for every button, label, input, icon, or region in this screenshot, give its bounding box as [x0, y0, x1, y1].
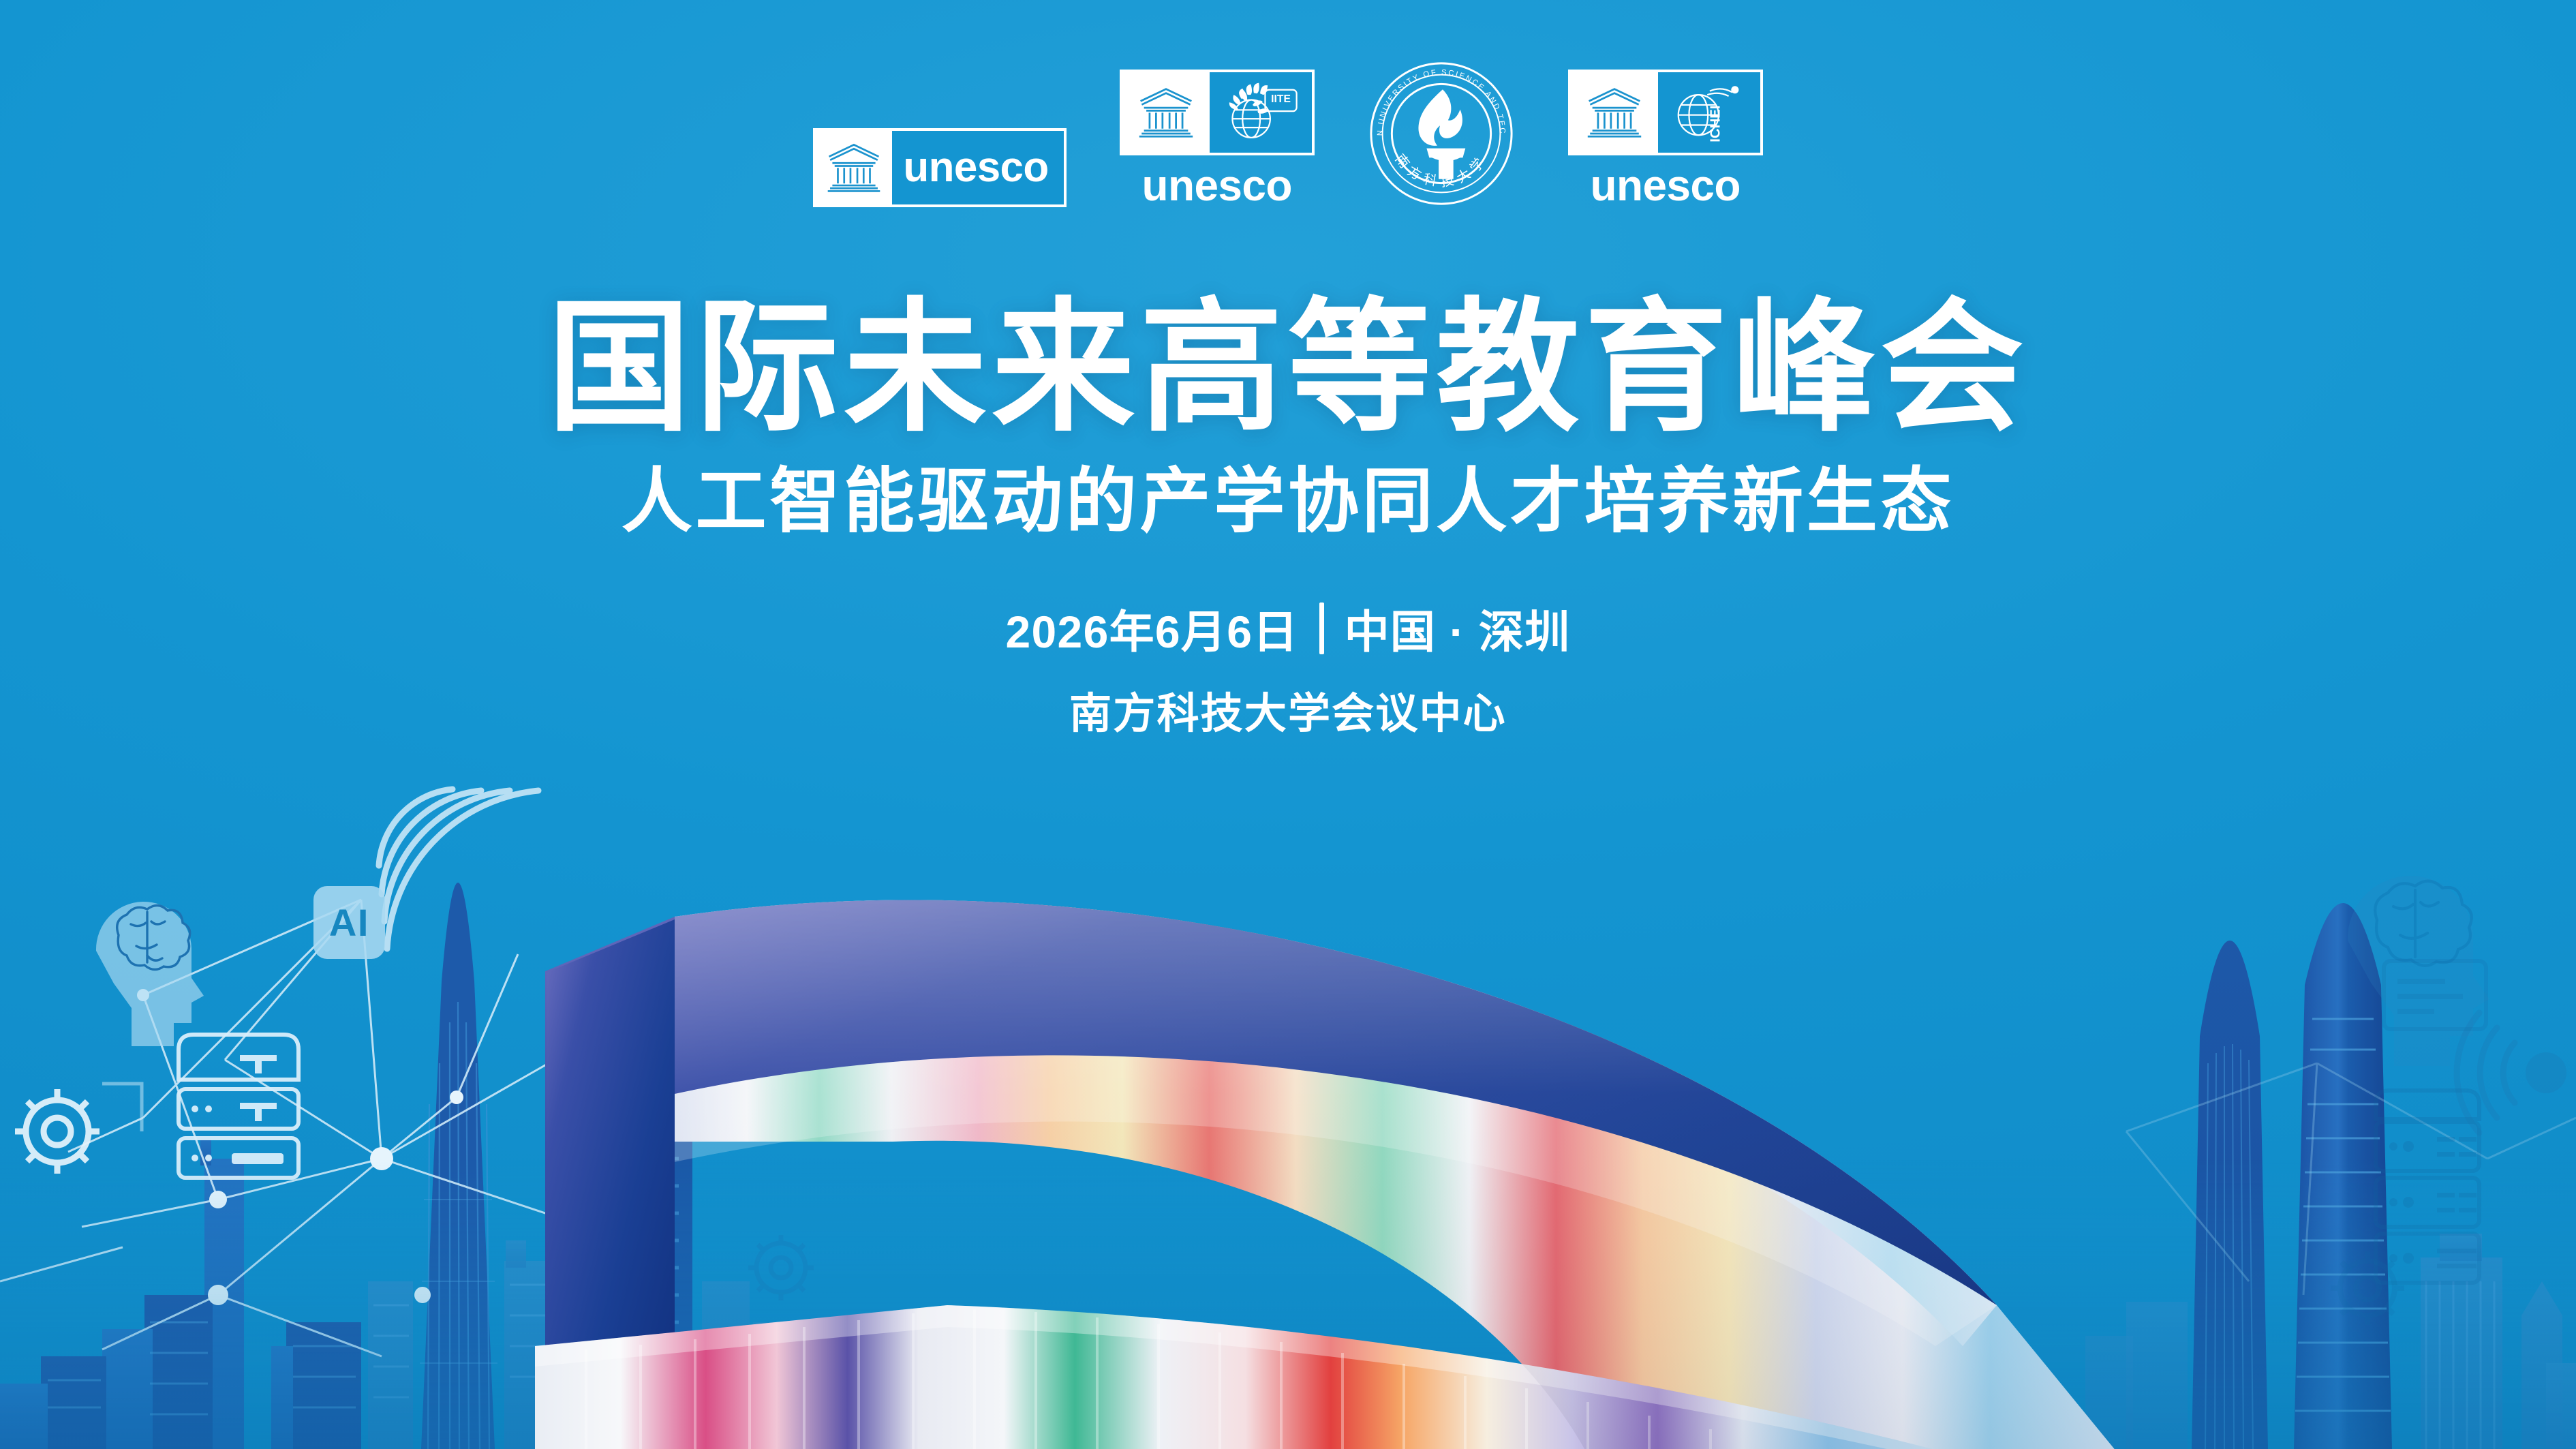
svg-text:IITE: IITE [1271, 93, 1291, 105]
network-graphic-right [2126, 1063, 2576, 1295]
arc-top-edge [675, 900, 1997, 1346]
network-graphic-left [0, 900, 695, 1356]
gear-icon [15, 1083, 142, 1192]
brain-head-icon-right [2348, 876, 2489, 1066]
svg-text:ICHEI: ICHEI [1708, 106, 1723, 142]
network-nodes-left [137, 989, 581, 1305]
torch-flame-emblem [1418, 89, 1465, 179]
unesco-iite-logo[interactable]: IITE unesco [1120, 70, 1315, 207]
page-subtitle: 人工智能驱动的产学协同人才培养新生态 [0, 461, 2576, 543]
poster-canvas: AI [0, 0, 2576, 1449]
arc-base-slab [535, 1305, 1956, 1449]
iite-emblem-icon: IITE [1210, 72, 1312, 153]
gear-icon-left-lower [748, 1235, 814, 1300]
unesco-wordmark: unesco [903, 147, 1048, 189]
event-venue: 南方科技大学会议中心 [0, 679, 2576, 740]
skyline-left [0, 883, 791, 1449]
unesco-temple-icon [816, 131, 892, 204]
unesco-wordmark: unesco [1142, 164, 1292, 207]
ai-badge-text: AI [329, 904, 369, 942]
skyline-right [2085, 903, 2576, 1449]
headline-block: 国际未来高等教育峰会 人工智能驱动的产学协同人才培养新生态 2026年6月6日 … [0, 293, 2576, 740]
unesco-wordmark: unesco [1591, 164, 1741, 207]
brain-head-icon [96, 902, 204, 1046]
event-location: 中国 · 深圳 [1345, 596, 1571, 661]
unesco-temple-icon [1571, 72, 1658, 153]
arc-ribbon [675, 900, 2119, 1449]
ai-badge-label: AI [313, 886, 385, 959]
document-card-icon-right [2384, 961, 2486, 1029]
iridescent-arc-podium [470, 869, 2119, 1449]
logo-row: unesco [0, 60, 2576, 207]
gear-icon-right [2331, 1251, 2404, 1325]
wifi-signal-icon [379, 789, 538, 949]
server-rack-icon-right [2376, 1090, 2479, 1283]
unesco-ichei-logo[interactable]: ICHEI unesco [1568, 70, 1763, 207]
unesco-logo[interactable]: unesco [813, 128, 1066, 207]
event-date: 2026年6月6日 [1005, 596, 1298, 661]
arc-dark-face [545, 900, 1997, 1449]
event-meta: 2026年6月6日 中国 · 深圳 [0, 596, 2576, 661]
wifi-signal-icon-right [2457, 1013, 2566, 1133]
sustech-seal-logo[interactable]: SOUTHERN UNIVERSITY OF SCIENCE AND TECHN… [1368, 60, 1515, 207]
server-rack-icon [179, 1035, 298, 1178]
ichei-emblem-icon: ICHEI [1658, 72, 1760, 153]
page-title: 国际未来高等教育峰会 [0, 293, 2576, 444]
unesco-temple-icon [1122, 72, 1210, 153]
meta-separator [1319, 603, 1324, 654]
